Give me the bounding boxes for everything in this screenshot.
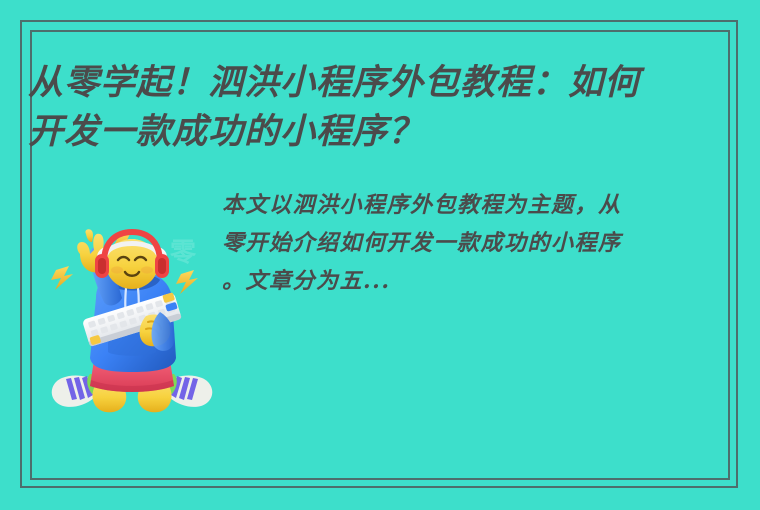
lightning-bolt-icon-right bbox=[176, 270, 198, 294]
article-summary-line-1: 本文以泗洪小程序外包教程为主题，从 bbox=[222, 186, 730, 224]
article-summary-line-3: 。文章分为五... bbox=[222, 262, 730, 300]
page-title: 从零学起！泗洪小程序外包教程：如何 开发一款成功的小程序？ bbox=[28, 58, 734, 156]
poster-canvas: 从零学起！泗洪小程序外包教程：如何 开发一款成功的小程序？ 本文以泗洪小程序外包… bbox=[0, 0, 760, 510]
illustration-3d-developer-character bbox=[42, 228, 222, 423]
article-summary: 本文以泗洪小程序外包教程为主题，从 零开始介绍如何开发一款成功的小程序 。文章分… bbox=[222, 186, 730, 300]
article-summary-line-2: 零开始介绍如何开发一款成功的小程序 bbox=[222, 224, 730, 262]
lightning-bolt-icon-left bbox=[51, 266, 73, 290]
